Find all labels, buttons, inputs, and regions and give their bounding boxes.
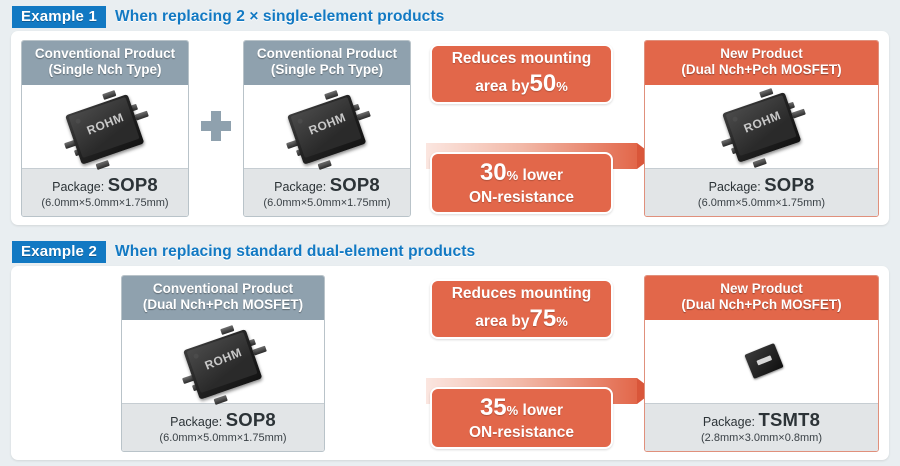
benefit-line1: Reduces mounting <box>452 284 592 304</box>
benefit-line1: 30% lower <box>469 158 574 189</box>
benefit-line2: ON-resistance <box>469 423 574 443</box>
card-footer: Package: SOP8 (6.0mm×5.0mm×1.75mm) <box>122 403 324 451</box>
example-1-badge: Example 1 <box>12 6 106 28</box>
card-header-line1: Conventional Product <box>124 281 322 297</box>
benefit-line2: area by75% <box>452 304 592 335</box>
card-image-area: ROHM <box>22 85 188 168</box>
example-2-heading: Example 2 When replacing standard dual-e… <box>12 241 475 263</box>
example-2-title: When replacing standard dual-element pro… <box>115 243 475 261</box>
package-line: Package: SOP8 <box>24 174 186 196</box>
sop8-chip-icon: ROHM <box>169 320 280 410</box>
example-1-title: When replacing 2 × single-element produc… <box>115 8 444 26</box>
package-dims: (6.0mm×5.0mm×1.75mm) <box>24 197 186 209</box>
package-name: SOP8 <box>108 174 158 195</box>
card-footer: Package: SOP8 (6.0mm×5.0mm×1.75mm) <box>244 168 410 216</box>
card-header-line1: New Product <box>647 46 876 62</box>
benefit-unit: % <box>556 314 568 329</box>
conventional-card-nch: Conventional Product (Single Nch Type) <box>21 40 189 217</box>
sop8-chip-icon: ROHM <box>51 85 162 175</box>
card-header: Conventional Product (Single Nch Type) <box>22 41 188 85</box>
card-image-area: ROHM <box>645 85 878 168</box>
example-1-heading: Example 1 When replacing 2 × single-elem… <box>12 6 444 28</box>
card-header-line2: (Single Pch Type) <box>246 62 408 78</box>
card-header: Conventional Product (Single Pch Type) <box>244 41 410 85</box>
benefit-value: 75 <box>530 305 557 332</box>
sop8-chip-icon: ROHM <box>273 85 384 175</box>
new-product-card-2: New Product (Dual Nch+Pch MOSFET) Packag… <box>644 275 879 452</box>
card-header-line1: Conventional Product <box>246 46 408 62</box>
package-label: Package: <box>170 415 222 429</box>
card-header: New Product (Dual Nch+Pch MOSFET) <box>645 276 878 320</box>
card-footer: Package: SOP8 (6.0mm×5.0mm×1.75mm) <box>645 168 878 216</box>
benefit-on-resistance-1: 30% lower ON-resistance <box>430 152 613 214</box>
card-image-area <box>645 320 878 403</box>
card-header-line2: (Dual Nch+Pch MOSFET) <box>124 297 322 313</box>
package-dims: (6.0mm×5.0mm×1.75mm) <box>246 197 408 209</box>
package-label: Package: <box>703 415 755 429</box>
package-line: Package: TSMT8 <box>647 409 876 431</box>
plus-icon <box>201 111 231 141</box>
package-line: Package: SOP8 <box>124 409 322 431</box>
card-image-area: ROHM <box>122 320 324 403</box>
example-2-panel: Conventional Product (Dual Nch+Pch MOSFE… <box>11 266 889 460</box>
benefit-unit: % <box>507 403 519 418</box>
package-label: Package: <box>709 180 761 194</box>
benefit-mounting-area-2: Reduces mounting area by75% <box>430 279 613 339</box>
package-dims: (6.0mm×5.0mm×1.75mm) <box>124 432 322 444</box>
package-name: SOP8 <box>330 174 380 195</box>
package-label: Package: <box>274 180 326 194</box>
package-name: SOP8 <box>764 174 814 195</box>
benefit-value: 30 <box>480 159 507 186</box>
card-footer: Package: TSMT8 (2.8mm×3.0mm×0.8mm) <box>645 403 878 451</box>
sop8-chip-icon: ROHM <box>708 83 819 173</box>
card-header-line2: (Single Nch Type) <box>24 62 186 78</box>
example-1-panel: Conventional Product (Single Nch Type) <box>11 31 889 225</box>
package-dims: (2.8mm×3.0mm×0.8mm) <box>647 432 876 444</box>
card-header-line1: New Product <box>647 281 876 297</box>
benefit-suffix: lower <box>523 402 563 419</box>
benefit-unit: % <box>556 79 568 94</box>
benefit-prefix: area by <box>475 313 529 330</box>
package-name: SOP8 <box>226 409 276 430</box>
benefit-line1: 35% lower <box>469 393 574 424</box>
card-header-line2: (Dual Nch+Pch MOSFET) <box>647 297 876 313</box>
conventional-card-dual: Conventional Product (Dual Nch+Pch MOSFE… <box>121 275 325 452</box>
conventional-card-pch: Conventional Product (Single Pch Type) <box>243 40 411 217</box>
example-2-badge: Example 2 <box>12 241 106 263</box>
benefit-mounting-area-1: Reduces mounting area by50% <box>430 44 613 104</box>
benefit-unit: % <box>507 168 519 183</box>
card-image-area: ROHM <box>244 85 410 168</box>
benefit-line2: ON-resistance <box>469 188 574 208</box>
benefit-suffix: lower <box>523 167 563 184</box>
benefit-value: 50 <box>530 70 557 97</box>
benefit-value: 35 <box>480 394 507 421</box>
card-header: Conventional Product (Dual Nch+Pch MOSFE… <box>122 276 324 320</box>
card-header: New Product (Dual Nch+Pch MOSFET) <box>645 41 878 85</box>
benefit-on-resistance-2: 35% lower ON-resistance <box>430 387 613 449</box>
card-header-line2: (Dual Nch+Pch MOSFET) <box>647 62 876 78</box>
new-product-card-1: New Product (Dual Nch+Pch MOSFET) ROHM <box>644 40 879 217</box>
package-name: TSMT8 <box>758 409 820 430</box>
benefit-prefix: area by <box>475 78 529 95</box>
card-header-line1: Conventional Product <box>24 46 186 62</box>
package-label: Package: <box>52 180 104 194</box>
package-line: Package: SOP8 <box>246 174 408 196</box>
benefit-line1: Reduces mounting <box>452 49 592 69</box>
package-line: Package: SOP8 <box>647 174 876 196</box>
card-footer: Package: SOP8 (6.0mm×5.0mm×1.75mm) <box>22 168 188 216</box>
infographic-root: Example 1 When replacing 2 × single-elem… <box>0 0 900 466</box>
tsmt8-chip-icon <box>744 343 783 379</box>
benefit-line2: area by50% <box>452 69 592 100</box>
package-dims: (6.0mm×5.0mm×1.75mm) <box>647 197 876 209</box>
